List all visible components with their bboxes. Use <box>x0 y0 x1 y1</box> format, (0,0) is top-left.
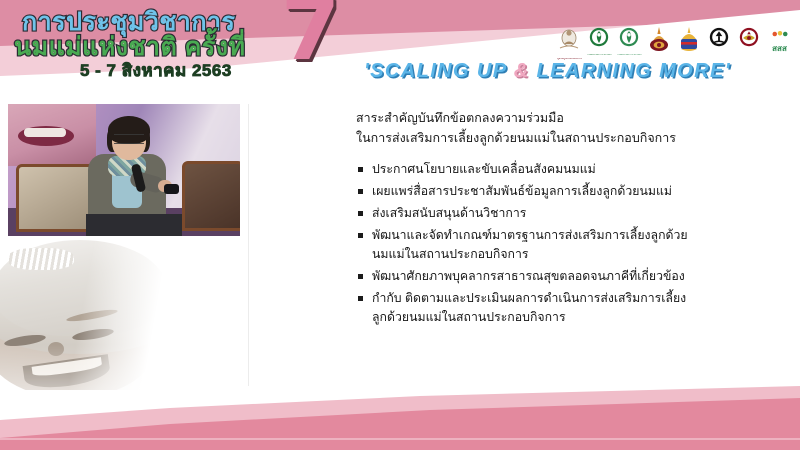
list-item: ส่งเสริมสนับสนุนด้านวิชาการ <box>356 204 696 223</box>
list-item: เผยแพร่สื่อสารประชาสัมพันธ์ข้อมูลการเลี้… <box>356 182 696 201</box>
list-item: กำกับ ติดตามและประเมินผลการดำเนินการส่งเ… <box>356 289 696 327</box>
lead-line-2: ในการส่งเสริมการเลี้ยงลูกด้วยนมแม่ในสถาน… <box>356 128 696 148</box>
department-of-health-caption: กรมอนามัย กระทรวงสาธารณสุข <box>617 54 642 57</box>
list-item: พัฒนาศักยภาพบุคลากรสาธารณสุขตลอดจนภาคีที… <box>356 267 696 286</box>
lead-line-1: สาระสำคัญบันทึกข้อตกลงความร่วมมือ <box>356 108 696 128</box>
slide-content: สาระสำคัญบันทึกข้อตกลงความร่วมมือ ในการส… <box>356 108 696 330</box>
black-circle-emblem-icon <box>707 27 732 53</box>
department-of-health-logo-icon: กรมอนามัย กระทรวงสาธารณสุข <box>617 27 642 53</box>
sponsor-logo-row: มูลนิธิศูนย์นมแม่แห่งประเทศไทย กรมอนามัย… <box>557 27 792 53</box>
royal-crown-emblem-icon <box>647 27 672 53</box>
ministry-of-public-health-logo-icon: กรมอนามัย กระทรวงสาธารณสุข <box>587 27 612 53</box>
bullet-list: ประกาศนโยบายและขับเคลื่อนสังคมนมแม่ เผยแ… <box>356 160 696 327</box>
ministry-of-public-health-caption: กรมอนามัย กระทรวงสาธารณสุข <box>587 54 612 57</box>
column-divider <box>248 104 249 386</box>
edition-number: 7 <box>281 0 340 73</box>
presentation-slide: การประชุมวิชาการ นมแม่แห่งชาติ ครั้งที่ … <box>0 0 800 450</box>
slogan-ampersand: & <box>514 60 530 82</box>
list-item: ประกาศนโยบายและขับเคลื่อนสังคมนมแม่ <box>356 160 696 179</box>
list-item: พัฒนาและจัดทำเกณฑ์มาตรฐานการส่งเสริมการเ… <box>356 226 696 264</box>
royal-patronage-emblem-caption: มูลนิธิศูนย์นมแม่แห่งประเทศไทย <box>557 58 582 61</box>
thai-national-emblem-icon <box>677 27 702 53</box>
thaihealth-sss-caption: สสส <box>767 45 792 53</box>
conference-date: 5 - 7 สิงหาคม 2563 <box>80 57 232 84</box>
slogan-suffix: LEARNING MORE' <box>530 60 731 82</box>
speaker-presentation-photo <box>8 104 240 236</box>
royal-patronage-emblem-icon: มูลนิธิศูนย์นมแม่แห่งประเทศไทย <box>557 27 582 53</box>
smiling-baby-photo <box>0 238 170 390</box>
slogan-prefix: 'SCALING UP <box>364 60 514 82</box>
red-garuda-emblem-icon <box>737 27 762 53</box>
footer-highlight-strip <box>0 438 800 440</box>
thaihealth-sss-logo-icon: สสส <box>767 27 792 53</box>
conference-slogan: 'SCALING UP & LEARNING MORE' <box>364 60 731 83</box>
